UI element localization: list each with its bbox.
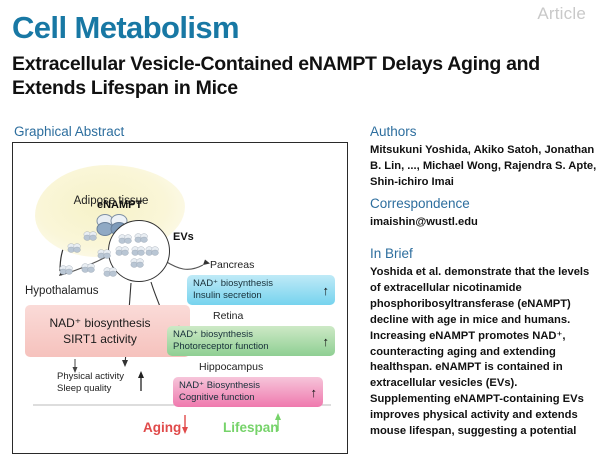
retina-effect-line1: NAD⁺ biosynthesis [173,329,269,341]
enampt-label: eNAMPT [97,199,142,211]
retina-effect-line2: Photoreceptor function [173,341,269,353]
retina-effect-box: NAD⁺ biosynthesis Photoreceptor function… [167,326,335,356]
hippocampus-effect-box: NAD⁺ Biosynthesis Cognitive function ↑ [173,377,323,407]
behavior-line1: Physical activity [57,371,124,383]
in-brief-text: Yoshida et al. demonstrate that the leve… [370,265,598,440]
hypothalamus-effect-line2: SIRT1 activity [31,331,169,347]
behavior-line2: Sleep quality [57,383,124,395]
journal-masthead: Cell Metabolism [12,12,239,43]
outcome-aging-label: Aging [143,420,181,435]
retina-arrow: ↑ [323,335,330,348]
correspondence-section: Correspondence imaishin@wustl.edu [370,196,598,231]
retina-label: Retina [213,310,243,322]
hypothalamus-effect-line1: NAD⁺ biosynthesis [31,315,169,331]
hypothalamus-effect-box: NAD⁺ biosynthesis SIRT1 activity ↑ [25,305,190,357]
hippocampus-arrow: ↑ [311,386,318,399]
pancreas-effect-line2: Insulin secretion [193,290,273,302]
hypothalamus-label: Hypothalamus [25,285,99,297]
in-brief-heading: In Brief [370,246,598,261]
graphical-abstract-heading: Graphical Abstract [14,124,124,139]
page-title: Extracellular Vesicle-Contained eNAMPT D… [12,52,572,101]
paper-cover-page: Article Cell Metabolism Extracellular Ve… [0,0,600,456]
graphical-abstract-figure: Adipose tissue eNAMPT [12,142,348,454]
hippocampus-effect-line1: NAD⁺ Biosynthesis [179,380,260,392]
in-brief-section: In Brief Yoshida et al. demonstrate that… [370,246,598,440]
article-type-tag: Article [537,4,586,24]
correspondence-email[interactable]: imaishin@wustl.edu [370,215,598,231]
pancreas-label: Pancreas [210,259,254,271]
pancreas-effect-box: NAD⁺ biosynthesis Insulin secretion ↑ [187,275,335,305]
authors-list: Mitsukuni Yoshida, Akiko Satoh, Jonathan… [370,143,598,191]
hippocampus-label: Hippocampus [199,361,263,373]
authors-section: Authors Mitsukuni Yoshida, Akiko Satoh, … [370,124,598,191]
hippocampus-effect-line2: Cognitive function [179,392,260,404]
correspondence-heading: Correspondence [370,196,598,211]
authors-heading: Authors [370,124,598,139]
pancreas-effect-line1: NAD⁺ biosynthesis [193,278,273,290]
outcome-lifespan-label: Lifespan [223,420,279,435]
evs-label: EVs [173,231,194,243]
pancreas-arrow: ↑ [323,284,330,297]
behavior-outcome-note: Physical activity Sleep quality [57,371,124,396]
